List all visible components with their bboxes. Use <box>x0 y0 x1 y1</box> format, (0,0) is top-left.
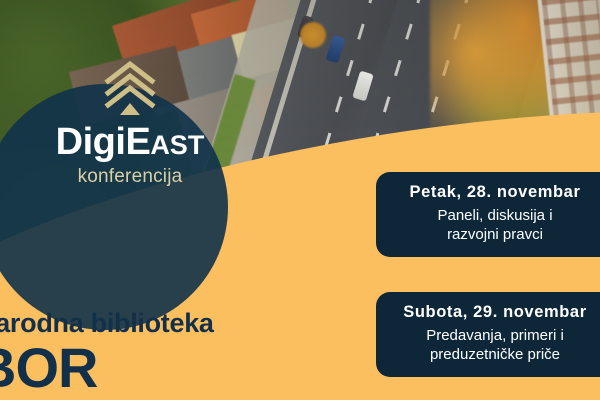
schedule-card-title: Subota, 29. novembar <box>392 303 598 322</box>
schedule-card-line1: Paneli, diskusija i <box>392 206 598 225</box>
brand-name-part3: AST <box>150 132 204 159</box>
schedule-card-line2: razvojni pravci <box>392 225 598 244</box>
schedule-card-line1: Predavanja, primeri i <box>392 326 598 345</box>
brand-subtitle: konferencija <box>78 166 183 188</box>
organizer-line2: BOR <box>0 341 276 394</box>
logo-circle-content: Digi E AST konferencija <box>0 0 246 246</box>
schedule-card-saturday[interactable]: Subota, 29. novembar Predavanja, primeri… <box>376 292 600 377</box>
organizer-block: Narodna biblioteka BOR <box>0 308 276 394</box>
brand-wordmark: Digi E AST <box>56 123 205 161</box>
promo-banner: Digi E AST konferencija Narodna bibliote… <box>0 0 600 400</box>
brand-name-part1: Digi <box>56 123 126 161</box>
chevron-stack-logo-icon <box>102 59 158 121</box>
schedule-card-title: Petak, 28. novembar <box>392 183 598 202</box>
schedule-card-line2: preduzetničke priče <box>392 345 598 364</box>
schedule-card-friday[interactable]: Petak, 28. novembar Paneli, diskusija i … <box>376 172 600 257</box>
organizer-line1: Narodna biblioteka <box>0 308 276 339</box>
brand-name-part2: E <box>125 123 150 161</box>
